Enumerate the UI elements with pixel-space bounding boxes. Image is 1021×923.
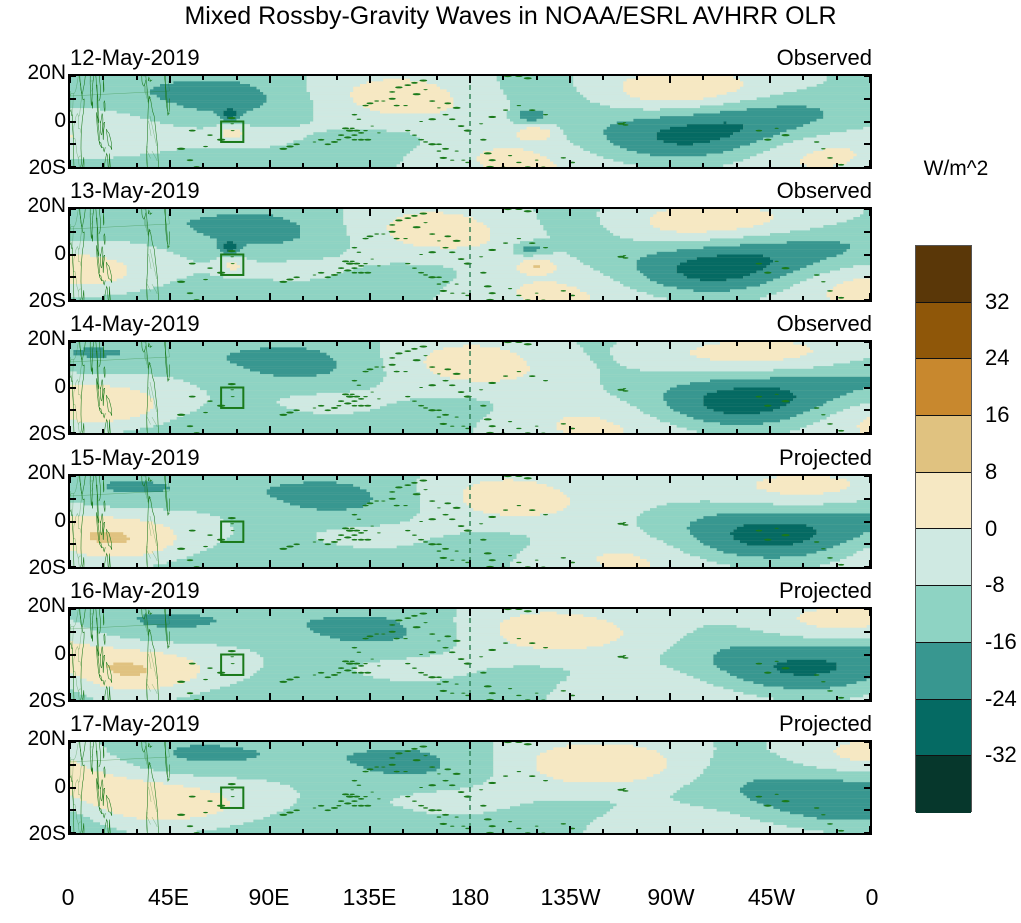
x-tick	[536, 429, 538, 434]
x-tick	[602, 208, 604, 213]
x-tick	[269, 560, 271, 568]
x-tick	[869, 560, 871, 568]
x-tick	[269, 341, 271, 349]
x-tick	[602, 696, 604, 701]
x-tick	[536, 608, 538, 613]
x-tick	[436, 208, 438, 213]
x-tick	[769, 693, 771, 701]
x-tick	[502, 75, 504, 80]
x-tick	[169, 426, 171, 434]
y-axis-tick-label: 0	[8, 375, 66, 399]
x-tick	[202, 208, 204, 213]
x-tick	[869, 826, 871, 834]
x-tick	[302, 608, 304, 613]
x-tick	[102, 75, 104, 80]
x-tick	[69, 426, 71, 434]
y-tick	[69, 143, 76, 145]
x-tick	[869, 75, 871, 83]
x-tick	[369, 475, 371, 483]
y-tick	[864, 276, 871, 278]
panel-status-label: Projected	[779, 578, 872, 604]
x-tick	[702, 475, 704, 480]
x-tick	[369, 160, 371, 168]
colorbar-units-label: W/m^2	[906, 157, 1006, 181]
y-tick	[69, 276, 76, 278]
y-tick	[864, 409, 871, 411]
x-tick	[602, 829, 604, 834]
x-tick	[136, 341, 138, 346]
x-tick	[402, 75, 404, 80]
y-axis-tick-label: 0	[8, 509, 66, 533]
x-tick	[436, 296, 438, 301]
panel-date-label: 16-May-2019	[70, 578, 200, 604]
y-tick	[69, 521, 76, 523]
x-tick	[836, 696, 838, 701]
x-tick	[69, 75, 71, 83]
x-tick	[269, 208, 271, 216]
x-tick	[136, 741, 138, 746]
x-tick	[602, 429, 604, 434]
x-tick	[202, 341, 204, 346]
x-tick	[302, 475, 304, 480]
x-tick	[236, 163, 238, 168]
x-tick	[636, 163, 638, 168]
colorbar-band	[916, 473, 971, 530]
x-tick	[102, 341, 104, 346]
y-tick	[69, 231, 76, 233]
x-tick	[236, 75, 238, 80]
y-tick	[69, 254, 76, 256]
colorbar-band	[916, 529, 971, 586]
x-axis-tick-label: 45W	[748, 884, 795, 911]
x-tick	[336, 296, 338, 301]
x-tick	[136, 75, 138, 80]
panel-status-label: Observed	[777, 178, 872, 204]
x-tick	[836, 608, 838, 613]
x-tick	[636, 741, 638, 746]
x-tick	[836, 208, 838, 213]
y-tick	[69, 631, 76, 633]
x-tick	[469, 693, 471, 701]
x-tick	[69, 741, 71, 749]
colorbar-tick-label: -8	[985, 572, 1005, 598]
x-tick	[869, 608, 871, 616]
x-tick	[636, 296, 638, 301]
x-tick	[202, 429, 204, 434]
x-tick	[702, 696, 704, 701]
x-tick	[736, 429, 738, 434]
x-tick	[702, 75, 704, 80]
x-tick	[602, 163, 604, 168]
x-tick	[369, 208, 371, 216]
x-tick	[569, 75, 571, 83]
x-tick	[69, 608, 71, 616]
x-tick	[169, 608, 171, 616]
x-axis-labels: 045E90E135E180135W90W45W0	[68, 884, 872, 916]
x-tick	[336, 475, 338, 480]
y-axis-tick-label: 20N	[8, 327, 66, 351]
x-tick	[669, 426, 671, 434]
x-tick	[869, 293, 871, 301]
x-tick	[736, 608, 738, 613]
x-tick	[736, 741, 738, 746]
x-tick	[469, 426, 471, 434]
x-tick	[836, 429, 838, 434]
map-panel	[68, 474, 872, 569]
x-tick	[502, 741, 504, 746]
x-tick	[569, 293, 571, 301]
x-tick	[636, 608, 638, 613]
x-tick	[102, 741, 104, 746]
x-tick	[869, 208, 871, 216]
x-tick	[136, 475, 138, 480]
x-tick	[102, 429, 104, 434]
x-tick	[202, 696, 204, 701]
x-tick	[102, 208, 104, 213]
x-tick	[702, 341, 704, 346]
x-tick	[536, 563, 538, 568]
x-tick	[469, 160, 471, 168]
map-panel	[68, 607, 872, 702]
x-tick	[402, 563, 404, 568]
x-tick	[202, 741, 204, 746]
x-tick	[69, 560, 71, 568]
x-tick	[802, 475, 804, 480]
x-tick	[202, 475, 204, 480]
x-tick	[702, 163, 704, 168]
x-tick	[336, 563, 338, 568]
x-tick	[236, 208, 238, 213]
x-tick	[536, 696, 538, 701]
x-tick	[302, 696, 304, 701]
x-tick	[769, 475, 771, 483]
x-tick	[736, 296, 738, 301]
x-tick	[669, 293, 671, 301]
x-tick	[836, 163, 838, 168]
x-tick	[69, 160, 71, 168]
x-tick	[202, 75, 204, 80]
x-tick	[236, 563, 238, 568]
page-title: Mixed Rossby-Gravity Waves in NOAA/ESRL …	[0, 2, 1021, 31]
x-tick	[402, 163, 404, 168]
x-tick	[69, 341, 71, 349]
y-tick	[69, 787, 76, 789]
x-tick	[136, 563, 138, 568]
x-tick	[469, 75, 471, 83]
y-tick	[864, 521, 871, 523]
x-tick	[336, 75, 338, 80]
x-tick	[802, 208, 804, 213]
x-tick	[469, 341, 471, 349]
x-tick	[269, 75, 271, 83]
x-tick	[169, 160, 171, 168]
y-tick	[864, 98, 871, 100]
colorbar-band	[916, 246, 971, 303]
x-tick	[69, 208, 71, 216]
x-axis-tick-label: 180	[451, 884, 489, 911]
x-tick	[402, 341, 404, 346]
x-tick	[702, 429, 704, 434]
x-tick	[136, 696, 138, 701]
x-tick	[502, 563, 504, 568]
x-tick	[236, 608, 238, 613]
x-tick	[569, 560, 571, 568]
x-tick	[436, 696, 438, 701]
x-tick	[769, 826, 771, 834]
x-tick	[302, 563, 304, 568]
panel-date-label: 12-May-2019	[70, 45, 200, 71]
x-tick	[136, 608, 138, 613]
x-tick	[669, 826, 671, 834]
x-tick	[402, 608, 404, 613]
x-tick	[369, 693, 371, 701]
x-tick	[536, 163, 538, 168]
x-tick	[402, 696, 404, 701]
x-tick	[869, 341, 871, 349]
colorbar-tick-label: -24	[985, 686, 1017, 712]
x-tick	[869, 693, 871, 701]
x-tick	[269, 475, 271, 483]
x-tick	[769, 560, 771, 568]
colorbar-band	[916, 416, 971, 473]
x-tick	[669, 160, 671, 168]
x-tick	[402, 208, 404, 213]
x-tick	[536, 75, 538, 80]
x-tick	[569, 208, 571, 216]
y-tick	[69, 676, 76, 678]
colorbar-tick-label: -16	[985, 629, 1017, 655]
y-tick	[864, 364, 871, 366]
map-panel	[68, 74, 872, 169]
x-tick	[769, 741, 771, 749]
y-tick	[864, 254, 871, 256]
x-tick	[869, 160, 871, 168]
y-tick	[864, 809, 871, 811]
x-tick	[769, 426, 771, 434]
x-tick	[302, 741, 304, 746]
x-tick	[436, 341, 438, 346]
x-tick	[369, 741, 371, 749]
colorbar-tick-label: 32	[985, 289, 1009, 315]
x-tick	[169, 208, 171, 216]
y-axis-tick-label: 0	[8, 109, 66, 133]
y-axis-tick-label: 0	[8, 642, 66, 666]
x-tick	[469, 208, 471, 216]
panel-date-label: 13-May-2019	[70, 178, 200, 204]
x-tick	[536, 475, 538, 480]
x-tick	[336, 608, 338, 613]
y-axis-tick-label: 20S	[8, 822, 66, 846]
x-tick	[702, 563, 704, 568]
x-tick	[836, 475, 838, 480]
x-tick	[536, 741, 538, 746]
x-axis-tick-label: 135E	[343, 884, 397, 911]
x-tick	[202, 829, 204, 834]
x-tick	[702, 829, 704, 834]
y-axis-tick-label: 20N	[8, 461, 66, 485]
x-tick	[69, 475, 71, 483]
x-tick	[669, 75, 671, 83]
x-tick	[736, 75, 738, 80]
x-tick	[369, 560, 371, 568]
x-tick	[336, 696, 338, 701]
x-tick	[569, 426, 571, 434]
x-tick	[802, 75, 804, 80]
x-tick	[369, 826, 371, 834]
y-axis-tick-label: 20N	[8, 727, 66, 751]
x-tick	[602, 475, 604, 480]
y-axis-tick-label: 20N	[8, 594, 66, 618]
x-tick	[336, 341, 338, 346]
x-tick	[502, 608, 504, 613]
x-tick	[802, 829, 804, 834]
x-tick	[102, 563, 104, 568]
x-tick	[169, 693, 171, 701]
x-tick	[102, 696, 104, 701]
x-tick	[302, 429, 304, 434]
x-tick	[836, 341, 838, 346]
map-panel	[68, 340, 872, 435]
x-tick	[836, 741, 838, 746]
y-tick	[864, 543, 871, 545]
x-tick	[836, 296, 838, 301]
x-tick	[436, 163, 438, 168]
x-tick	[269, 160, 271, 168]
x-tick	[669, 560, 671, 568]
x-tick	[236, 475, 238, 480]
x-tick	[802, 163, 804, 168]
x-tick	[669, 475, 671, 483]
x-tick	[802, 608, 804, 613]
x-tick	[102, 829, 104, 834]
x-tick	[602, 741, 604, 746]
x-tick	[402, 296, 404, 301]
x-tick	[336, 829, 338, 834]
x-tick	[169, 75, 171, 83]
x-tick	[269, 426, 271, 434]
x-tick	[402, 475, 404, 480]
x-tick	[569, 341, 571, 349]
x-axis-tick-label: 0	[62, 884, 75, 911]
x-tick	[136, 829, 138, 834]
x-tick	[636, 563, 638, 568]
x-tick	[736, 829, 738, 834]
x-tick	[836, 75, 838, 80]
x-tick	[169, 560, 171, 568]
x-tick	[236, 829, 238, 834]
x-tick	[402, 829, 404, 834]
map-panel	[68, 207, 872, 302]
x-tick	[369, 75, 371, 83]
x-tick	[169, 826, 171, 834]
x-tick	[469, 560, 471, 568]
x-tick	[102, 296, 104, 301]
x-tick	[436, 475, 438, 480]
x-tick	[302, 163, 304, 168]
y-tick	[69, 764, 76, 766]
x-tick	[802, 429, 804, 434]
panel-status-label: Observed	[777, 311, 872, 337]
y-tick	[69, 654, 76, 656]
y-axis-tick-label: 20S	[8, 689, 66, 713]
y-tick	[864, 121, 871, 123]
y-tick	[864, 231, 871, 233]
x-axis-tick-label: 135W	[540, 884, 600, 911]
x-tick	[336, 741, 338, 746]
x-tick	[869, 426, 871, 434]
x-tick	[236, 341, 238, 346]
x-axis-tick-label: 45E	[148, 884, 189, 911]
x-axis-tick-label: 90W	[647, 884, 694, 911]
x-tick	[302, 75, 304, 80]
x-tick	[669, 341, 671, 349]
x-tick	[369, 608, 371, 616]
x-tick	[636, 829, 638, 834]
x-tick	[602, 341, 604, 346]
x-tick	[836, 829, 838, 834]
y-tick	[69, 121, 76, 123]
x-tick	[602, 608, 604, 613]
x-tick	[502, 429, 504, 434]
y-axis-tick-label: 20S	[8, 556, 66, 580]
x-axis-tick-label: 0	[866, 884, 879, 911]
map-panel	[68, 740, 872, 835]
x-tick	[136, 429, 138, 434]
panel-status-label: Observed	[777, 45, 872, 71]
x-tick	[636, 208, 638, 213]
colorbar	[915, 245, 972, 812]
x-tick	[136, 163, 138, 168]
x-tick	[69, 293, 71, 301]
panel-status-label: Projected	[779, 711, 872, 737]
x-tick	[469, 826, 471, 834]
y-axis-tick-label: 0	[8, 242, 66, 266]
x-tick	[436, 429, 438, 434]
colorbar-tick-label: 16	[985, 402, 1009, 428]
x-tick	[569, 160, 571, 168]
x-tick	[669, 693, 671, 701]
x-tick	[769, 160, 771, 168]
x-tick	[769, 608, 771, 616]
x-tick	[569, 826, 571, 834]
colorbar-band	[916, 700, 971, 757]
y-tick	[69, 498, 76, 500]
colorbar-band	[916, 643, 971, 700]
x-tick	[236, 296, 238, 301]
colorbar-tick-label: 8	[985, 459, 997, 485]
y-tick	[864, 764, 871, 766]
x-tick	[702, 608, 704, 613]
y-tick	[864, 498, 871, 500]
y-tick	[864, 654, 871, 656]
x-tick	[369, 293, 371, 301]
y-tick	[69, 387, 76, 389]
x-tick	[169, 741, 171, 749]
x-tick	[536, 341, 538, 346]
y-tick	[864, 787, 871, 789]
y-tick	[69, 543, 76, 545]
x-tick	[569, 693, 571, 701]
x-tick	[102, 608, 104, 613]
colorbar-tick-label: 24	[985, 345, 1009, 371]
x-tick	[202, 563, 204, 568]
x-tick	[569, 475, 571, 483]
x-tick	[802, 696, 804, 701]
x-tick	[636, 429, 638, 434]
y-axis-tick-label: 20S	[8, 422, 66, 446]
x-tick	[536, 208, 538, 213]
y-tick	[864, 143, 871, 145]
